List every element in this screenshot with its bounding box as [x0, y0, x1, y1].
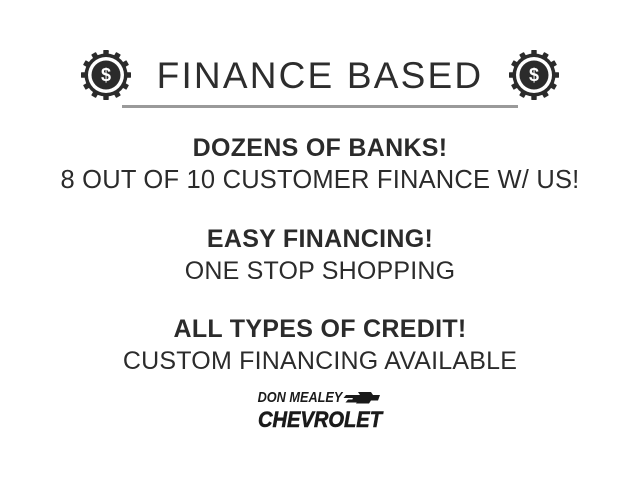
- dealer-logo-wrap: DON MEALEY CHEVROLET: [0, 384, 640, 436]
- brand-name-text: CHEVROLET: [258, 407, 383, 432]
- header-divider: [122, 105, 518, 108]
- dealer-logo: DON MEALEY CHEVROLET: [256, 384, 384, 436]
- offer-subline: CUSTOM FINANCING AVAILABLE: [0, 345, 640, 377]
- offer-headline: ALL TYPES OF CREDIT!: [0, 313, 640, 345]
- offer-block: EASY FINANCING! ONE STOP SHOPPING: [0, 223, 640, 287]
- offer-block: DOZENS OF BANKS! 8 OUT OF 10 CUSTOMER FI…: [0, 132, 640, 197]
- offer-headline: EASY FINANCING!: [0, 223, 640, 255]
- offer-headline: DOZENS OF BANKS!: [0, 132, 640, 164]
- gear-dollar-icon-left: $: [81, 50, 131, 100]
- header: $ FINANCE BASED: [0, 44, 640, 106]
- dealer-name-text: DON MEALEY: [258, 389, 345, 406]
- svg-text:$: $: [101, 65, 111, 85]
- offer-subline: 8 OUT OF 10 CUSTOMER FINANCE W/ US!: [0, 164, 640, 197]
- gear-dollar-icon-right: $: [509, 50, 559, 100]
- chevrolet-bowtie-icon: [344, 392, 381, 404]
- offer-blocks: DOZENS OF BANKS! 8 OUT OF 10 CUSTOMER FI…: [0, 132, 640, 377]
- page-title: FINANCE BASED: [153, 57, 488, 94]
- offer-block: ALL TYPES OF CREDIT! CUSTOM FINANCING AV…: [0, 313, 640, 377]
- offer-subline: ONE STOP SHOPPING: [0, 255, 640, 287]
- finance-based-ad-card: $ FINANCE BASED: [0, 0, 640, 480]
- svg-text:$: $: [529, 65, 539, 85]
